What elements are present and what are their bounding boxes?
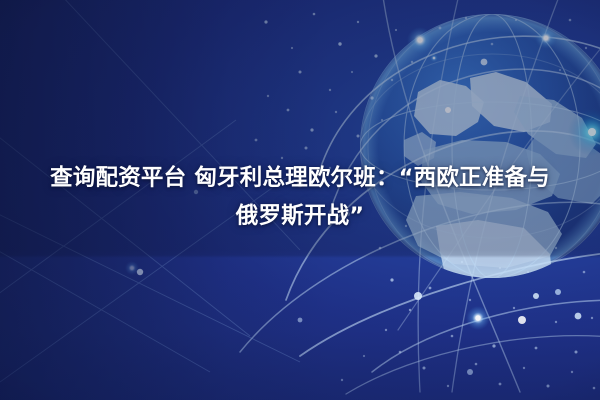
headline-line-1: 查询配资平台 匈牙利总理欧尔班：“西欧正准备与	[0, 159, 600, 197]
headline-line-2: 俄罗斯开战”	[0, 197, 600, 235]
banner-image: 查询配资平台 匈牙利总理欧尔班：“西欧正准备与 俄罗斯开战”	[0, 0, 600, 400]
